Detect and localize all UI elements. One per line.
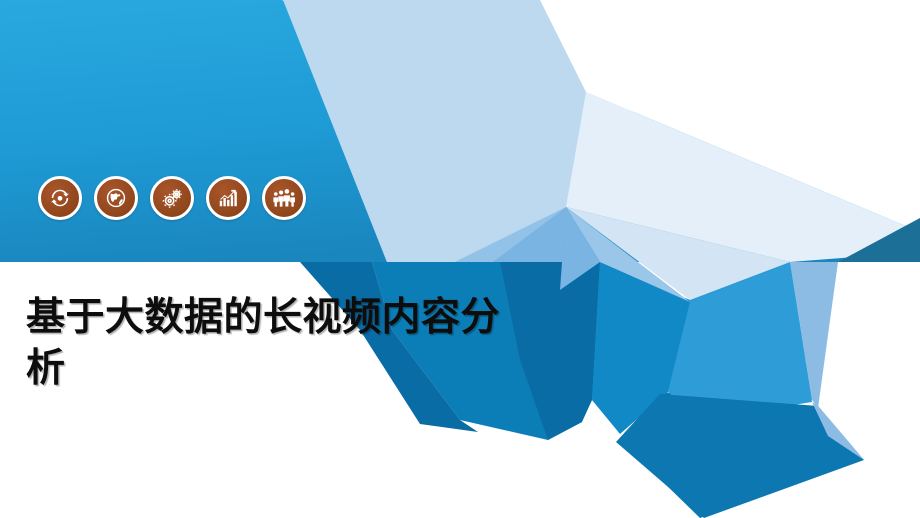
people-group-icon xyxy=(272,187,296,209)
title-slide: 数智创新 变革未来 xyxy=(0,0,920,518)
icon-strip xyxy=(38,176,306,220)
icon-badge-refresh-cycle[interactable] xyxy=(38,176,82,220)
refresh-cycle-icon xyxy=(49,187,71,209)
title-block: 基于大数据的长视频内容分析 xyxy=(26,292,516,395)
globe-icon xyxy=(105,187,127,209)
icon-badge-bar-chart-growth[interactable] xyxy=(206,176,250,220)
bar-chart-growth-icon xyxy=(217,187,239,209)
icon-badge-globe[interactable] xyxy=(94,176,138,220)
background-polygon-artwork xyxy=(0,0,920,518)
tagline: 数智创新 变革未来 xyxy=(715,27,898,48)
icon-badge-gears[interactable] xyxy=(150,176,194,220)
gears-icon xyxy=(161,187,184,210)
icon-badge-people-group[interactable] xyxy=(262,176,306,220)
page-title: 基于大数据的长视频内容分析 xyxy=(26,292,516,395)
